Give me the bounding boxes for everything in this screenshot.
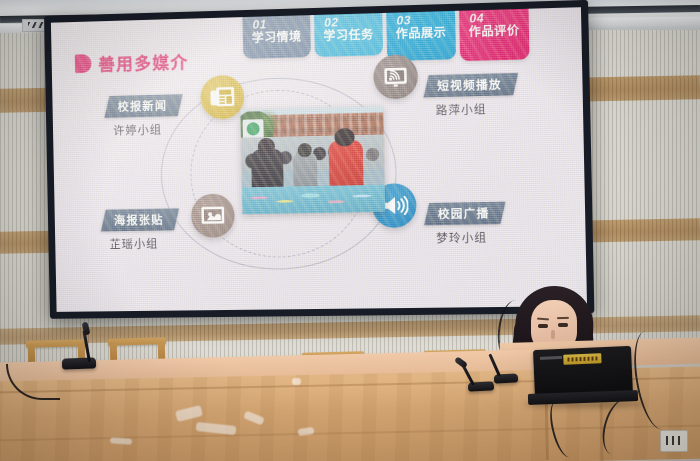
led-display-screen[interactable]: 01 学习情境 02 学习任务 03 作品展示 04 作品评价 — [44, 0, 594, 319]
item-label-short-video[interactable]: 短视频播放 路萍小组 — [426, 73, 516, 119]
item-label-poster[interactable]: 海报张贴 芷瑶小组 — [103, 208, 177, 252]
tab-04-work-evaluation[interactable]: 04 作品评价 — [459, 7, 529, 61]
tab-number: 01 — [251, 17, 301, 30]
photo-display-table — [242, 185, 385, 215]
laptop-label-sticker — [563, 353, 601, 365]
lecture-hall-scene: 01 学习情境 02 学习任务 03 作品展示 04 作品评价 — [0, 0, 700, 461]
item-tag: 校报新闻 — [104, 94, 182, 118]
eyebrow — [557, 317, 569, 319]
item-tag: 海报张贴 — [101, 208, 179, 231]
tab-02-learning-task[interactable]: 02 学习任务 — [314, 11, 383, 57]
gooseneck-microphone-left-base[interactable] — [62, 357, 96, 369]
eye — [538, 324, 548, 328]
screen-surface: 01 学习情境 02 学习任务 03 作品展示 04 作品评价 — [51, 7, 587, 312]
tab-01-learning-context[interactable]: 01 学习情境 — [242, 13, 310, 59]
bullet-icon — [75, 54, 92, 73]
presentation-slide: 01 学习情境 02 学习任务 03 作品展示 04 作品评价 — [51, 7, 587, 312]
item-group: 梦玲小组 — [436, 229, 503, 246]
tab-label: 作品评价 — [469, 23, 520, 39]
tab-label: 学习任务 — [323, 27, 373, 42]
slide-title: 善用多媒介 — [98, 48, 189, 75]
tab-number: 02 — [323, 15, 373, 28]
screencast-icon[interactable] — [373, 54, 418, 99]
nose — [551, 330, 555, 339]
item-tag-text: 海报张贴 — [114, 212, 164, 229]
item-label-school-news[interactable]: 校报新闻 许婷小组 — [107, 94, 181, 138]
item-tag-text: 短视频播放 — [437, 76, 502, 94]
item-tag: 校园广播 — [424, 202, 505, 226]
item-tag: 短视频播放 — [424, 73, 518, 98]
item-group: 许婷小组 — [113, 121, 181, 138]
item-label-campus-radio[interactable]: 校园广播 梦玲小组 — [426, 202, 503, 247]
eye — [558, 323, 568, 327]
wall-socket[interactable] — [660, 430, 688, 452]
tab-label: 作品展示 — [396, 25, 447, 41]
item-tag-text: 校报新闻 — [117, 98, 167, 115]
tab-03-work-showcase[interactable]: 03 作品展示 — [386, 9, 456, 61]
item-tag-text: 校园广播 — [438, 205, 490, 222]
desk-scuff — [292, 378, 301, 385]
tab-label: 学习情境 — [252, 29, 302, 44]
laptop-logo-icon — [540, 356, 562, 360]
tab-number: 03 — [395, 13, 446, 27]
slide-title-row: 善用多媒介 — [75, 48, 189, 76]
item-group: 路萍小组 — [436, 100, 516, 118]
center-photo — [240, 106, 385, 214]
item-group: 芷瑶小组 — [109, 235, 177, 252]
tab-number: 04 — [468, 11, 519, 25]
